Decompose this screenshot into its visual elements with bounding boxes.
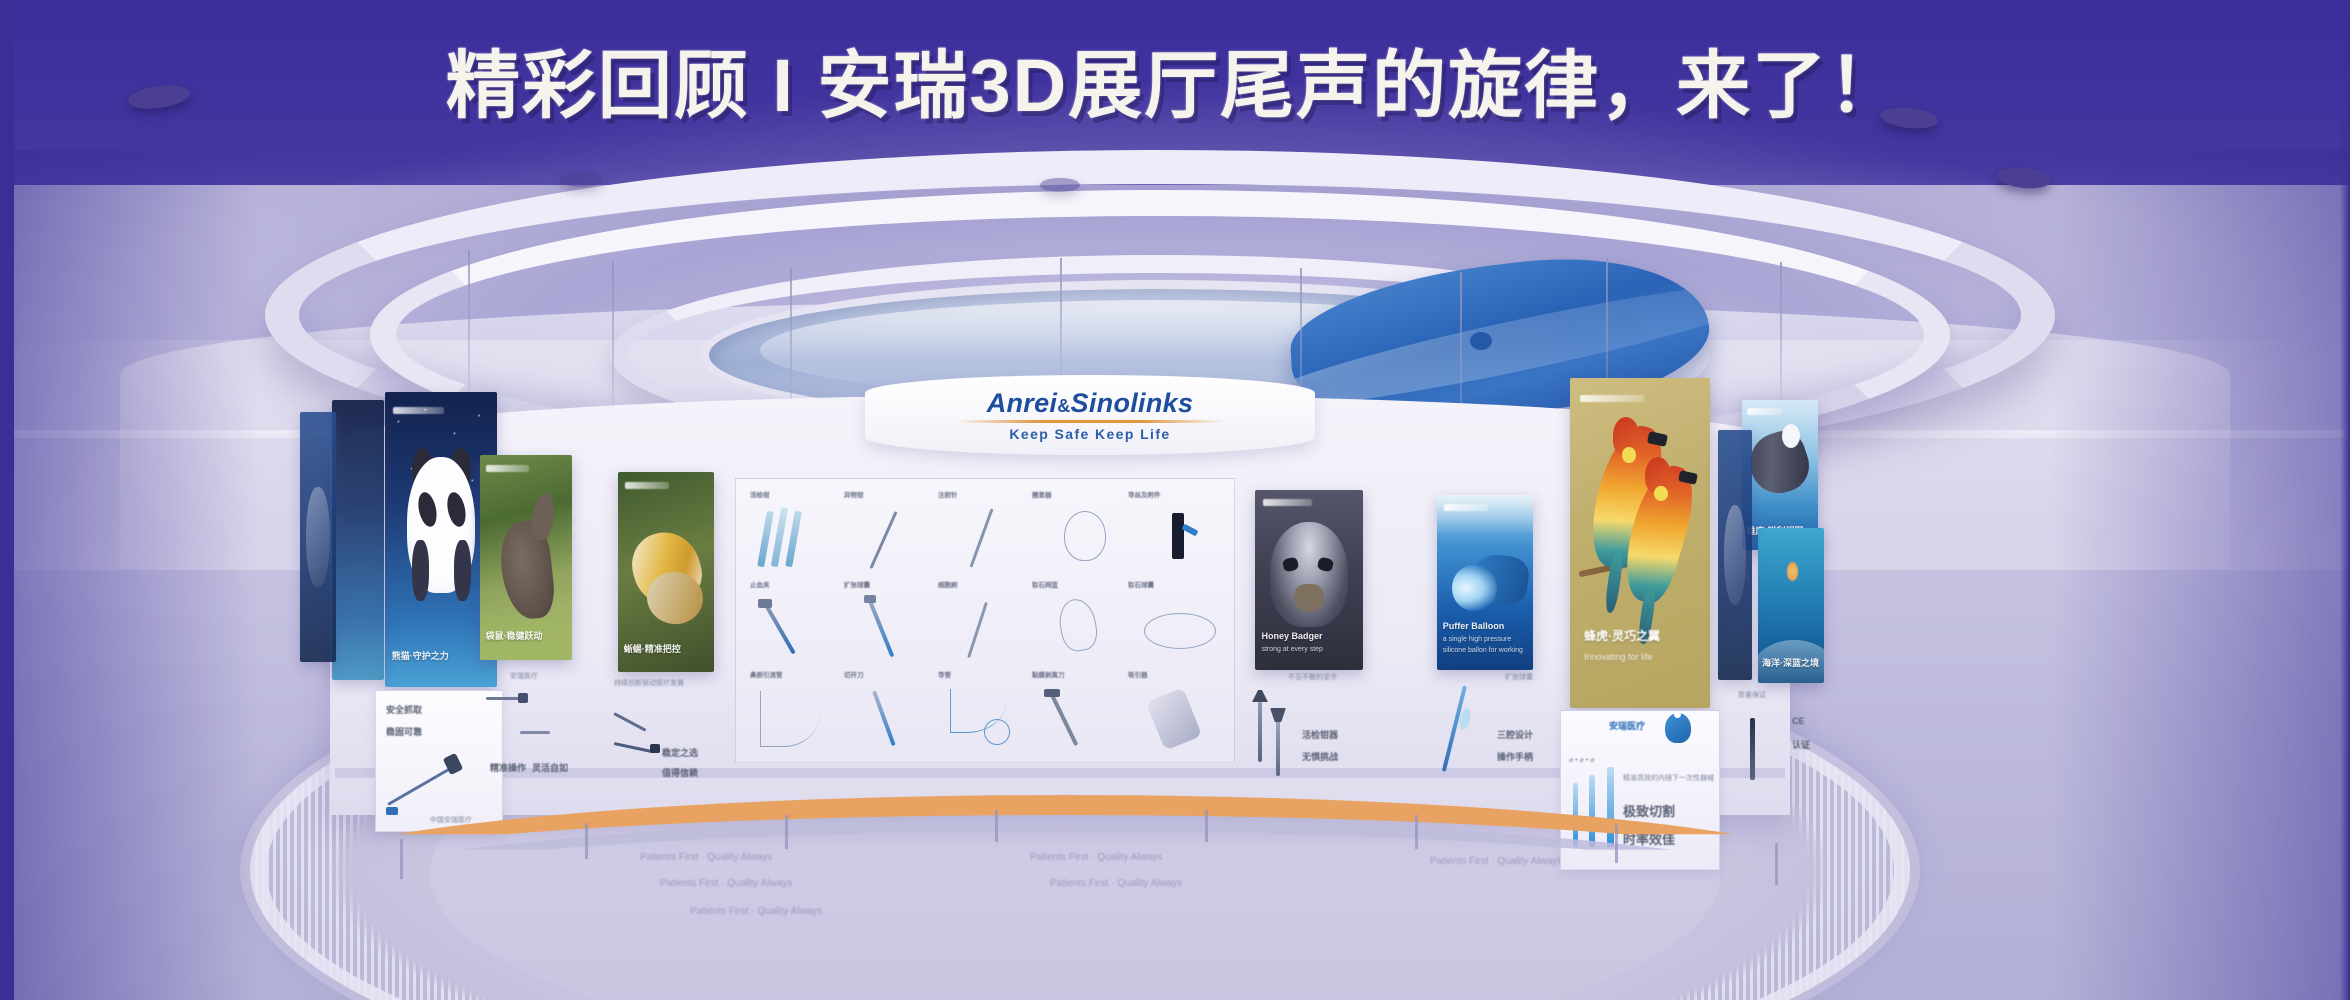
poster-bee-eater[interactable]: 蜂虎·灵巧之翼 Innovating for life bbox=[1570, 378, 1710, 708]
poster-lizard[interactable]: 蜥蜴·精准把控 bbox=[618, 472, 714, 672]
poster-subtitle: strong at every step bbox=[1261, 645, 1356, 656]
panel-eagle[interactable]: 质量保证 CE 认证 bbox=[1736, 690, 1830, 810]
product-snare-loop bbox=[1064, 511, 1106, 561]
product-cell[interactable]: 吸引器 bbox=[1126, 669, 1230, 755]
product-tip bbox=[1044, 689, 1060, 697]
product-rod bbox=[1050, 694, 1078, 746]
panel-kangaroo[interactable]: 安瑞医疗 精准操作 灵活自如 bbox=[474, 665, 580, 790]
poster-title: 蜂虎·灵巧之翼 bbox=[1584, 629, 1660, 643]
panel-line-1: 精准操作 bbox=[490, 761, 526, 776]
railing-post bbox=[1775, 843, 1778, 885]
product-cell[interactable]: 导管 bbox=[936, 669, 1036, 755]
panel-brand: 持续创新驱动医疗发展 bbox=[614, 678, 684, 690]
balloon-glow-icon bbox=[1452, 565, 1496, 611]
poster-brandmark bbox=[1444, 504, 1488, 511]
poster-honey-badger[interactable]: Honey Badger strong at every step bbox=[1255, 490, 1363, 670]
product-label: 注射针 bbox=[938, 489, 958, 499]
product-handle bbox=[1172, 513, 1184, 559]
product-rod bbox=[785, 511, 802, 567]
device-illustration bbox=[1441, 682, 1497, 782]
panel-brand: 质量保证 bbox=[1738, 690, 1766, 702]
ribbon-dot-icon bbox=[1470, 332, 1492, 350]
device-illustration bbox=[1250, 684, 1298, 780]
panel-brand: 扩张球囊 bbox=[1505, 672, 1533, 684]
product-cell[interactable]: 活检钳 bbox=[748, 489, 844, 575]
product-label: 活检钳 bbox=[750, 489, 770, 499]
poster-caption: 蜥蜴·精准把控 bbox=[624, 643, 709, 657]
product-cell[interactable]: 圈套器 bbox=[1030, 489, 1130, 575]
product-rod bbox=[967, 602, 988, 658]
railing-post bbox=[785, 815, 788, 849]
poster-subtitle: Innovating for life bbox=[1584, 652, 1699, 662]
poster-caption: Honey Badger strong at every step bbox=[1261, 630, 1356, 656]
panel-badger[interactable]: 不见不散的坚守 活检钳器 无惧挑战 bbox=[1246, 672, 1376, 794]
product-basket-loop bbox=[1056, 596, 1100, 653]
product-label: 导丝及附件 bbox=[1128, 489, 1161, 499]
device-illustration bbox=[480, 691, 576, 753]
railing-post bbox=[1415, 815, 1418, 849]
device-shaft bbox=[486, 697, 520, 700]
product-balloon-loop bbox=[1144, 613, 1216, 649]
panel-brand: 不见不散的坚守 bbox=[1288, 672, 1337, 684]
device-illustration bbox=[612, 702, 664, 772]
hanger-wire bbox=[1780, 262, 1782, 402]
product-rod bbox=[969, 508, 993, 567]
poster-brandmark bbox=[1263, 499, 1313, 506]
i-logo-dot bbox=[1674, 711, 1681, 718]
device-shaft-2 bbox=[614, 742, 654, 753]
poster-title: Puffer Balloon bbox=[1443, 621, 1505, 631]
panel-lizard[interactable]: 持续创新驱动医疗发展 稳定之选 值得信赖 bbox=[610, 676, 722, 796]
poster-caption: Puffer Balloon a single high pressure si… bbox=[1443, 620, 1528, 657]
poster-panda-side[interactable] bbox=[332, 400, 384, 680]
panel-line-2: 稳固可靠 bbox=[386, 725, 422, 740]
poster-title: Honey Badger bbox=[1261, 631, 1322, 641]
sun-icon bbox=[1787, 562, 1798, 581]
ceiling-spotlight bbox=[560, 172, 602, 187]
product-tip bbox=[758, 599, 772, 608]
bee-eater-bird-2-icon bbox=[1632, 464, 1685, 603]
device-jaw bbox=[1252, 690, 1268, 702]
brand-name-2: Sinolinks bbox=[1071, 388, 1194, 418]
product-cell[interactable]: 扩张球囊 bbox=[842, 579, 938, 665]
product-cell[interactable]: 鼻胆引流管 bbox=[748, 669, 844, 755]
poster-caption: 熊猫·守护之力 bbox=[392, 650, 491, 664]
poster-brandmark bbox=[393, 407, 445, 414]
product-label: 取石球囊 bbox=[1128, 579, 1154, 589]
railing-orange-band bbox=[255, 795, 1875, 935]
poster-shape bbox=[306, 487, 329, 587]
bird-throat bbox=[1654, 486, 1668, 501]
brand-logo-panel: Anrei&Sinolinks Keep Safe Keep Life bbox=[865, 375, 1315, 455]
poster-puffer-balloon[interactable]: Puffer Balloon a single high pressure si… bbox=[1437, 495, 1533, 670]
panel-line-2: 无惧挑战 bbox=[1302, 750, 1338, 765]
product-cell[interactable]: 止血夹 bbox=[748, 579, 844, 665]
railing-post bbox=[1205, 810, 1208, 842]
vignette-left bbox=[0, 150, 260, 1000]
product-label: 鼻胆引流管 bbox=[750, 669, 783, 679]
panel-line-2: 操作手柄 bbox=[1497, 750, 1533, 765]
device-jaw-2 bbox=[1270, 708, 1286, 722]
panel-line-2: 灵活自如 bbox=[532, 761, 568, 776]
poster-brandmark bbox=[625, 482, 669, 489]
railing-post bbox=[400, 839, 403, 879]
product-label: 止血夹 bbox=[750, 579, 770, 589]
product-cell[interactable]: 细胞刷 bbox=[936, 579, 1032, 665]
product-cell[interactable]: 取石球囊 bbox=[1126, 579, 1230, 665]
panel-line-1: 稳定之选 bbox=[662, 746, 698, 761]
panda-arm-left-icon bbox=[412, 540, 429, 602]
device-tip bbox=[650, 744, 660, 753]
hanger-wire bbox=[1060, 258, 1062, 383]
product-rod bbox=[870, 511, 898, 569]
product-label: 导管 bbox=[938, 669, 951, 679]
vignette-right bbox=[2050, 150, 2350, 1000]
railing-post bbox=[1615, 825, 1618, 863]
panel-line-2: 认证 bbox=[1792, 738, 1810, 753]
product-catheter-coil bbox=[984, 719, 1010, 745]
page-title: 精彩回顾 I 安瑞3D展厅尾声的旋律，来了！ bbox=[0, 26, 2350, 133]
panel-brand: 安瑞医疗 bbox=[1609, 719, 1645, 734]
device-shaft bbox=[613, 712, 646, 732]
hanger-wire bbox=[612, 262, 614, 412]
brand-logo-underline bbox=[955, 420, 1225, 423]
panel-line-1: 三腔设计 bbox=[1497, 728, 1533, 743]
product-rod bbox=[764, 604, 795, 654]
poster-aqua[interactable]: 海洋·深蓝之境 bbox=[1758, 528, 1824, 683]
poster-brandmark bbox=[486, 465, 528, 472]
device-shaft-2 bbox=[1276, 720, 1280, 776]
device-shaft bbox=[1258, 702, 1262, 762]
poster-kangaroo[interactable]: 袋鼠·稳健跃动 bbox=[480, 455, 572, 660]
panel-metric: ⌀ • ⌀ • ⌀ bbox=[1569, 755, 1594, 767]
eagle-wing-icon bbox=[1742, 426, 1815, 501]
hanger-wire bbox=[1606, 258, 1608, 388]
railing-post bbox=[585, 823, 588, 859]
product-cell[interactable]: 取石网篮 bbox=[1030, 579, 1130, 665]
poster-navy-left-edge[interactable] bbox=[300, 412, 336, 662]
poster-brandmark bbox=[1580, 395, 1644, 402]
product-label: 取石网篮 bbox=[1032, 579, 1058, 589]
product-tip bbox=[864, 595, 876, 603]
product-cell[interactable]: 黏膜剥离刀 bbox=[1030, 669, 1130, 755]
panel-sub: 精准高效的内镜下一次性器械 bbox=[1623, 773, 1714, 785]
product-cell[interactable]: 导丝及附件 bbox=[1126, 489, 1230, 575]
product-label: 切开刀 bbox=[844, 669, 864, 679]
panda-arm-right-icon bbox=[454, 540, 471, 602]
poster-navy-edge[interactable] bbox=[1718, 430, 1752, 680]
exhibition-scene: Patients First · Quality Always Patients… bbox=[0, 0, 2350, 1000]
brand-logo-text: Anrei&Sinolinks bbox=[987, 388, 1194, 419]
product-rod bbox=[872, 690, 896, 746]
product-cell[interactable]: 注射针 bbox=[936, 489, 1032, 575]
ceiling-spotlight bbox=[1040, 178, 1080, 192]
poster-shape bbox=[1724, 505, 1746, 605]
product-rod bbox=[1750, 718, 1755, 780]
poster-caption: 袋鼠·稳健跃动 bbox=[486, 630, 567, 644]
frame-edge-right bbox=[2340, 0, 2350, 1000]
product-label: 细胞刷 bbox=[938, 579, 958, 589]
product-label: 圈套器 bbox=[1032, 489, 1052, 499]
poster-caption: 蜂虎·灵巧之翼 Innovating for life bbox=[1584, 627, 1699, 662]
product-connector bbox=[1182, 524, 1199, 537]
product-label: 扩张球囊 bbox=[844, 579, 870, 589]
poster-water-surface bbox=[1437, 495, 1533, 534]
stage-railing bbox=[255, 795, 1875, 925]
product-cell[interactable]: 切开刀 bbox=[842, 669, 938, 755]
device-shaft-2 bbox=[520, 731, 550, 734]
product-label: 异物钳 bbox=[844, 489, 864, 499]
kangaroo-icon bbox=[497, 518, 557, 621]
brand-name-1: Anrei bbox=[987, 388, 1058, 418]
product-body bbox=[1146, 687, 1203, 750]
device-tip bbox=[518, 693, 528, 703]
panel-line-1: CE bbox=[1792, 714, 1805, 729]
product-label: 吸引器 bbox=[1128, 669, 1148, 679]
brand-ampersand: & bbox=[1057, 396, 1070, 416]
panel-brand: 安瑞医疗 bbox=[510, 671, 538, 683]
panel-line-1: 安全抓取 bbox=[386, 703, 422, 718]
hanger-wire bbox=[468, 250, 470, 400]
frame-edge-left bbox=[0, 0, 14, 1000]
railing-post bbox=[995, 810, 998, 842]
poster-caption: 海洋·深蓝之境 bbox=[1762, 657, 1820, 671]
product-display-wall[interactable]: 活检钳 异物钳 注射针 圈套器 导丝及附件 止血夹 扩张球 bbox=[735, 478, 1235, 763]
brand-tagline: Keep Safe Keep Life bbox=[1009, 426, 1170, 442]
panel-line-1: 活检钳器 bbox=[1302, 728, 1338, 743]
product-label: 黏膜剥离刀 bbox=[1032, 669, 1065, 679]
product-cell[interactable]: 异物钳 bbox=[842, 489, 938, 575]
panel-ocean[interactable]: 扩张球囊 三腔设计 操作手柄 bbox=[1425, 672, 1560, 794]
product-rod bbox=[868, 600, 894, 657]
poster-brandmark bbox=[1747, 408, 1782, 415]
poster-subtitle: a single high pressure silicone ballon f… bbox=[1443, 635, 1528, 656]
panel-line-2: 值得信赖 bbox=[662, 766, 698, 781]
product-drain-curve bbox=[760, 691, 820, 747]
hanger-wire bbox=[790, 268, 792, 418]
eagle-head-icon bbox=[1782, 424, 1800, 448]
hanger-wire bbox=[1460, 272, 1462, 422]
